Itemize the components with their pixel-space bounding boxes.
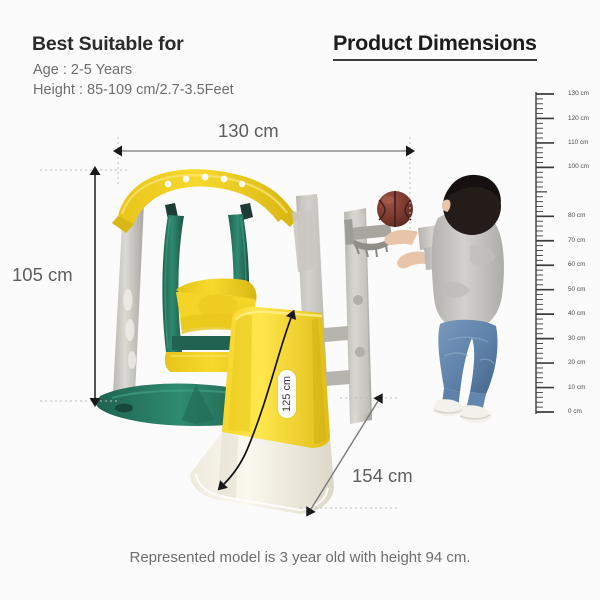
ruler-ticks bbox=[528, 88, 598, 418]
ruler-label: 60 cm bbox=[568, 261, 585, 268]
ruler-label: 30 cm bbox=[568, 335, 585, 342]
ruler-label: 0 cm bbox=[568, 408, 582, 415]
ruler-label: 70 cm bbox=[568, 237, 585, 244]
dimension-annotations bbox=[0, 0, 600, 600]
ruler-label: 40 cm bbox=[568, 310, 585, 317]
ruler-label: 10 cm bbox=[568, 384, 585, 391]
footer-note: Represented model is 3 year old with hei… bbox=[0, 549, 600, 566]
width-dimension-label: 130 cm bbox=[218, 120, 279, 142]
height-dimension-label: 105 cm bbox=[12, 264, 73, 286]
ruler-label: 130 cm bbox=[568, 90, 589, 97]
measuring-ruler: 130 cm120 cm110 cm100 cm80 cm70 cm60 cm5… bbox=[528, 88, 598, 418]
depth-dimension-arrow bbox=[311, 401, 378, 509]
ruler-label: 120 cm bbox=[568, 115, 589, 122]
slide-length-label: 125 cm bbox=[278, 370, 296, 418]
product-dimensions-infographic: Best Suitable for Age : 2-5 Years Height… bbox=[0, 0, 600, 600]
ruler-label: 80 cm bbox=[568, 212, 585, 219]
ruler-label: 20 cm bbox=[568, 359, 585, 366]
ruler-label: 100 cm bbox=[568, 163, 589, 170]
ruler-label: 50 cm bbox=[568, 286, 585, 293]
depth-dimension-label: 154 cm bbox=[352, 465, 413, 487]
ruler-label: 110 cm bbox=[568, 139, 588, 146]
